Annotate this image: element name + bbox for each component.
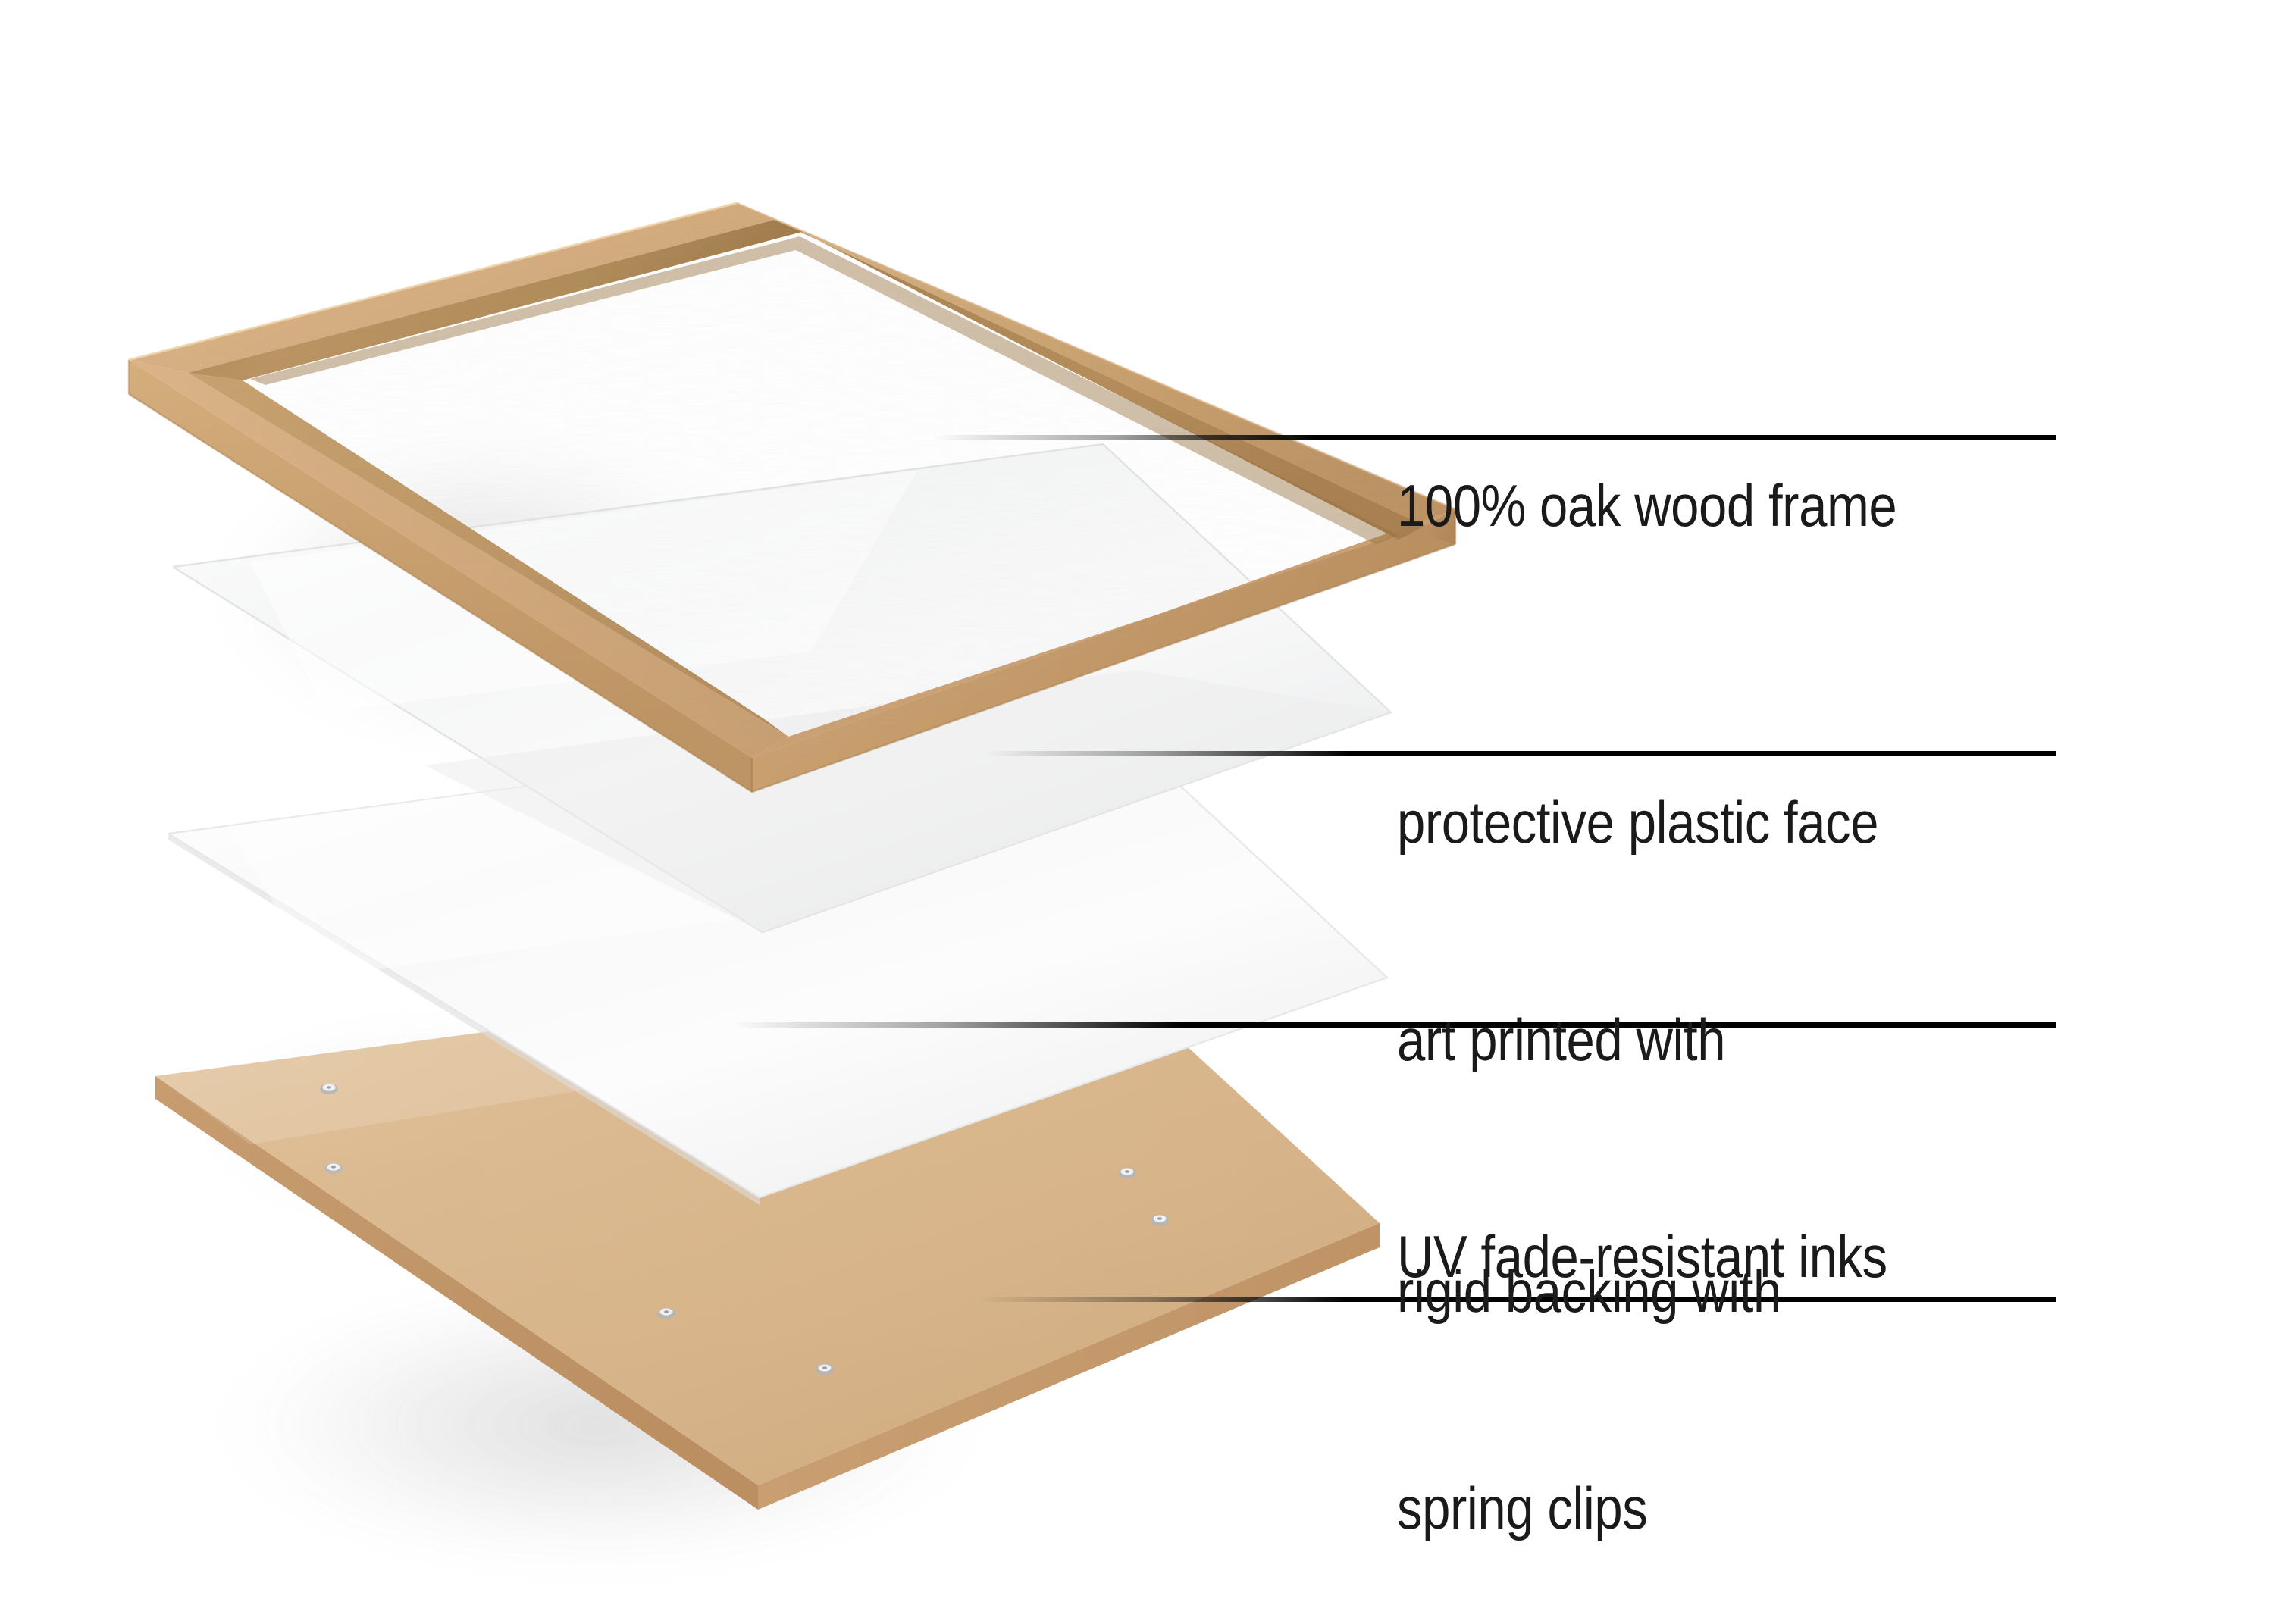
callout-line: spring clips [1397,1472,1781,1544]
exploded-frame-illustration [0,0,2274,1624]
spring-clip-rivet [1151,1215,1169,1225]
spring-clip-rivet [1118,1168,1136,1178]
spring-clip-rivet [657,1308,675,1319]
spring-clip-rivet [324,1163,343,1174]
spring-clip-rivet [816,1364,834,1375]
oak-frame-callout-label: 100% oak wood frame [1397,326,1897,687]
callout-line: rigid backing with [1397,1256,1781,1328]
rigid-backing-callout-label: rigid backing with spring clips [1397,1112,1781,1624]
diagram-canvas: 100% oak wood frame protective plastic f… [0,0,2274,1624]
spring-clip-rivet [320,1084,338,1094]
callout-line: art printed with [1397,1004,1887,1076]
callout-line: 100% oak wood frame [1397,470,1897,542]
callout-line: protective plastic face [1397,787,1878,859]
